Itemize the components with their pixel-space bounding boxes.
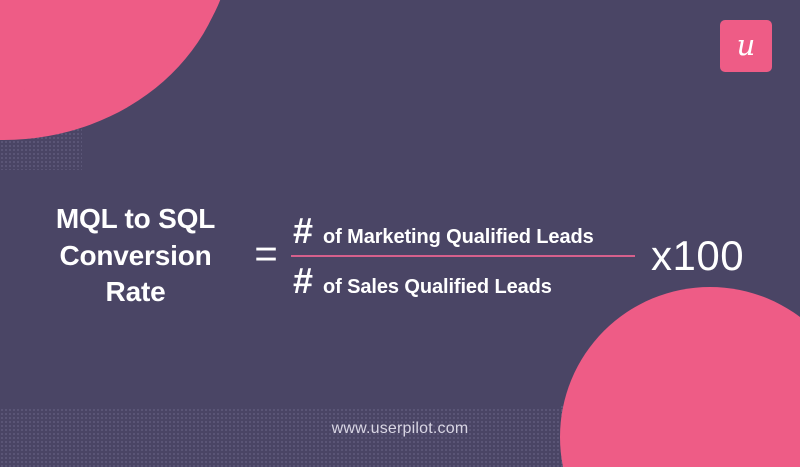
equals-sign: =	[243, 234, 289, 278]
footer-website: www.userpilot.com	[0, 420, 800, 438]
userpilot-logo: u	[720, 20, 772, 72]
fraction-denominator: # of Sales Qualified Leads	[289, 257, 637, 299]
hash-icon-denominator: #	[293, 263, 313, 299]
slide-canvas: u MQL to SQL Conversion Rate = # of Mark…	[0, 0, 800, 467]
fraction-denominator-text: of Sales Qualified Leads	[323, 277, 552, 297]
multiplier: x100	[651, 235, 744, 277]
userpilot-logo-mark: u	[737, 31, 756, 60]
formula-row: MQL to SQL Conversion Rate = # of Market…	[0, 186, 800, 326]
fraction-numerator: # of Marketing Qualified Leads	[289, 213, 637, 253]
fraction: # of Marketing Qualified Leads # of Sale…	[289, 213, 637, 299]
metric-title: MQL to SQL Conversion Rate	[28, 201, 243, 312]
fraction-numerator-text: of Marketing Qualified Leads	[323, 227, 594, 247]
hash-icon-numerator: #	[293, 213, 313, 249]
